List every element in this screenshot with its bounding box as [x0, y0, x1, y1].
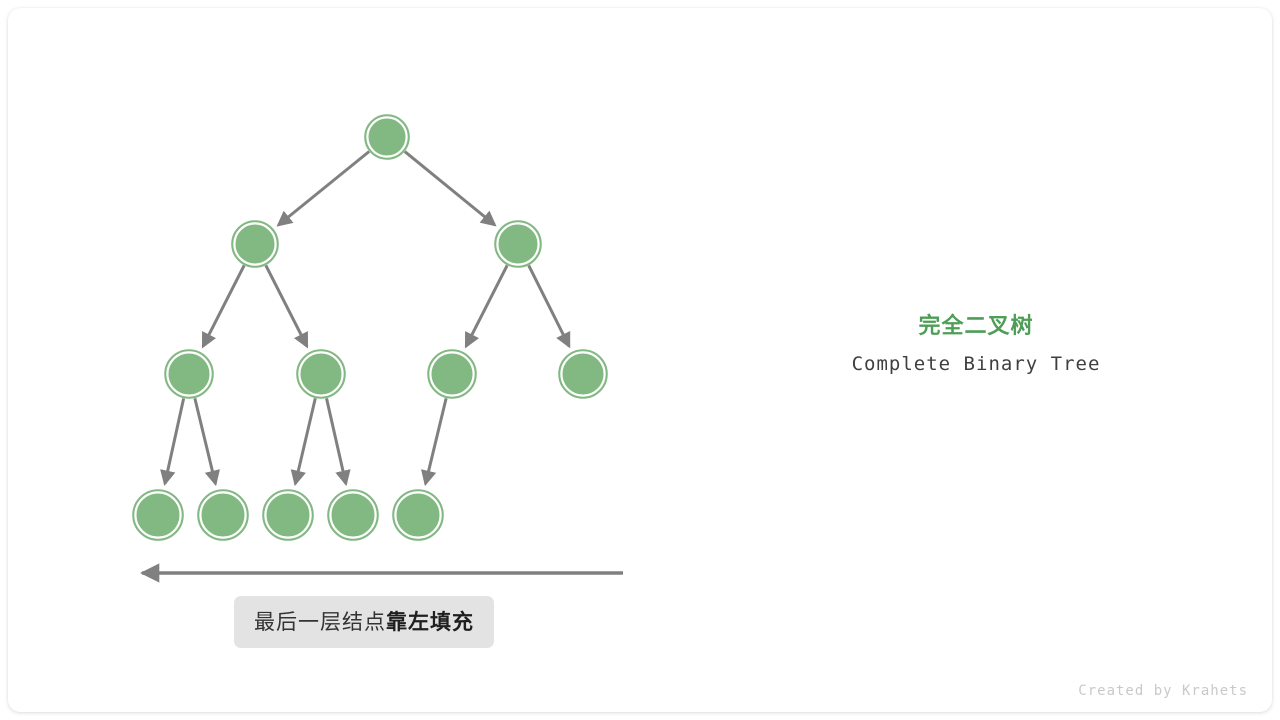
- tree-node: [495, 221, 541, 267]
- tree-edge: [278, 151, 369, 225]
- tree-node-fill: [236, 225, 274, 263]
- tree-node-fill: [267, 494, 309, 536]
- tree-edge: [195, 398, 216, 484]
- tree-node-fill: [432, 354, 472, 394]
- last-level-caption: 最后一层结点靠左填充: [234, 596, 494, 648]
- tree-node-fill: [301, 354, 341, 394]
- tree-node: [133, 490, 183, 540]
- figure-title-cn: 完全二叉树: [776, 308, 1176, 340]
- tree-node: [365, 115, 409, 159]
- tree-node: [165, 350, 213, 398]
- tree-edge: [405, 152, 495, 225]
- figure-card: 完全二叉树 Complete Binary Tree 最后一层结点靠左填充 Cr…: [8, 8, 1272, 712]
- tree-node: [232, 221, 278, 267]
- tree-node-fill: [137, 494, 179, 536]
- tree-node: [428, 350, 476, 398]
- tree-nodes: [133, 115, 607, 540]
- tree-node-fill: [169, 354, 209, 394]
- tree-node: [559, 350, 607, 398]
- tree-edge: [295, 398, 315, 483]
- tree-edge: [165, 398, 184, 483]
- tree-edge: [327, 398, 346, 483]
- tree-node: [328, 490, 378, 540]
- tree-node: [393, 490, 443, 540]
- tree-edge: [203, 265, 244, 346]
- watermark-credit: Created by Krahets: [1008, 683, 1248, 699]
- tree-node: [297, 350, 345, 398]
- tree-node-fill: [332, 494, 374, 536]
- tree-edge: [466, 265, 507, 346]
- tree-node-fill: [202, 494, 244, 536]
- tree-node-fill: [369, 119, 405, 155]
- figure-canvas: 完全二叉树 Complete Binary Tree 最后一层结点靠左填充 Cr…: [0, 0, 1280, 720]
- tree-node-fill: [499, 225, 537, 263]
- caption-emphasis-text: 靠左填充: [386, 611, 474, 634]
- tree-node: [263, 490, 313, 540]
- tree-edge: [529, 265, 569, 346]
- tree-edges: [165, 151, 569, 483]
- tree-node-fill: [563, 354, 603, 394]
- tree-node-fill: [397, 494, 439, 536]
- tree-edge: [266, 265, 307, 346]
- tree-node: [198, 490, 248, 540]
- tree-edge: [426, 398, 447, 484]
- figure-title-en: Complete Binary Tree: [776, 353, 1176, 375]
- caption-prefix-text: 最后一层结点: [254, 611, 386, 634]
